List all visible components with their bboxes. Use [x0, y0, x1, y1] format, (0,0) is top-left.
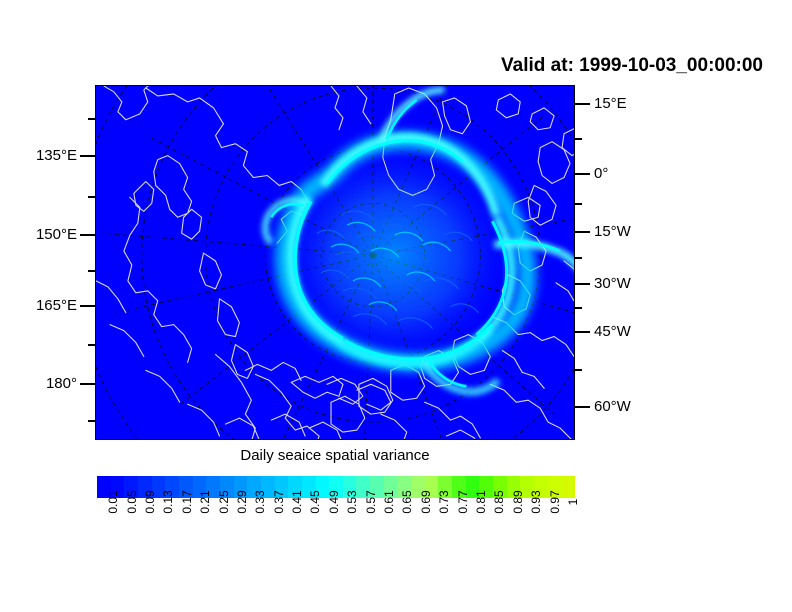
tick-right-minor-4	[575, 307, 582, 309]
colorbar-tick-4: 0.17	[171, 500, 189, 560]
colorbar-tick-11: 0.45	[299, 500, 317, 560]
colorbar-tick-20: 0.81	[465, 500, 483, 560]
axis-label-right-0: 15°E	[594, 96, 627, 111]
tick-right-minor-2	[575, 203, 582, 205]
tick-right-minor-5	[575, 369, 582, 371]
colorbar-tick-1: 0.05	[115, 500, 133, 560]
colorbar-tick-24: 0.97	[538, 500, 556, 560]
colorbar-tick-2: 0.09	[134, 500, 152, 560]
tick-left-major-2	[80, 234, 95, 236]
colorbar-tick-16: 0.65	[391, 500, 409, 560]
tick-right-major-6	[575, 406, 590, 408]
page-title: Valid at: 1999-10-03_00:00:00	[0, 55, 763, 77]
tick-left-minor-1	[88, 118, 95, 120]
tick-right-major-5	[575, 331, 590, 333]
tick-left-minor-2	[88, 196, 95, 198]
axis-label-right-5: 60°W	[594, 399, 631, 414]
colorbar-tick-17: 0.69	[410, 500, 428, 560]
colorbar-tick-25: 1	[557, 500, 575, 560]
tick-right-major-1	[575, 103, 590, 105]
tick-right-minor-1	[575, 138, 582, 140]
tick-left-major-1	[80, 155, 95, 157]
colorbar-caption: Daily seaice spatial variance	[95, 447, 575, 464]
map-canvas	[96, 86, 574, 439]
colorbar-tick-12: 0.49	[318, 500, 336, 560]
axis-label-right-4: 45°W	[594, 324, 631, 339]
tick-left-minor-3	[88, 270, 95, 272]
tick-right-major-4	[575, 283, 590, 285]
colorbar-tick-label-25: 1	[566, 499, 580, 506]
colorbar-tick-18: 0.73	[428, 500, 446, 560]
colorbar-tick-labels: 0.010.050.090.130.170.210.250.290.330.37…	[97, 500, 575, 560]
tick-left-major-4	[80, 383, 95, 385]
axis-label-left-1: 150°E	[36, 227, 77, 242]
colorbar-tick-22: 0.89	[502, 500, 520, 560]
colorbar-tick-3: 0.13	[152, 500, 170, 560]
axis-label-left-3: 180°	[46, 376, 77, 391]
colorbar-tick-15: 0.61	[373, 500, 391, 560]
tick-right-major-3	[575, 231, 590, 233]
map-panel[interactable]	[95, 85, 575, 440]
tick-right-minor-3	[575, 257, 582, 259]
axis-label-right-3: 30°W	[594, 276, 631, 291]
colorbar-tick-6: 0.25	[207, 500, 225, 560]
axis-label-right-1: 0°	[594, 166, 608, 181]
colorbar-tick-10: 0.41	[281, 500, 299, 560]
colorbar-tick-0: 0.01	[97, 500, 115, 560]
colorbar-tick-5: 0.21	[189, 500, 207, 560]
colorbar-tick-23: 0.93	[520, 500, 538, 560]
colorbar-tick-21: 0.85	[483, 500, 501, 560]
axis-label-left-0: 135°E	[36, 148, 77, 163]
tick-left-minor-4	[88, 344, 95, 346]
colorbar-tick-7: 0.29	[226, 500, 244, 560]
colorbar-tick-19: 0.77	[446, 500, 464, 560]
colorbar-tick-9: 0.37	[263, 500, 281, 560]
tick-left-major-3	[80, 305, 95, 307]
colorbar-swatch-34	[561, 476, 575, 498]
tick-left-minor-5	[88, 420, 95, 422]
tick-right-major-2	[575, 173, 590, 175]
colorbar-tick-8: 0.33	[244, 500, 262, 560]
axis-label-left-2: 165°E	[36, 298, 77, 313]
axis-label-right-2: 15°W	[594, 224, 631, 239]
colorbar-tick-13: 0.53	[336, 500, 354, 560]
colorbar-tick-14: 0.57	[354, 500, 372, 560]
